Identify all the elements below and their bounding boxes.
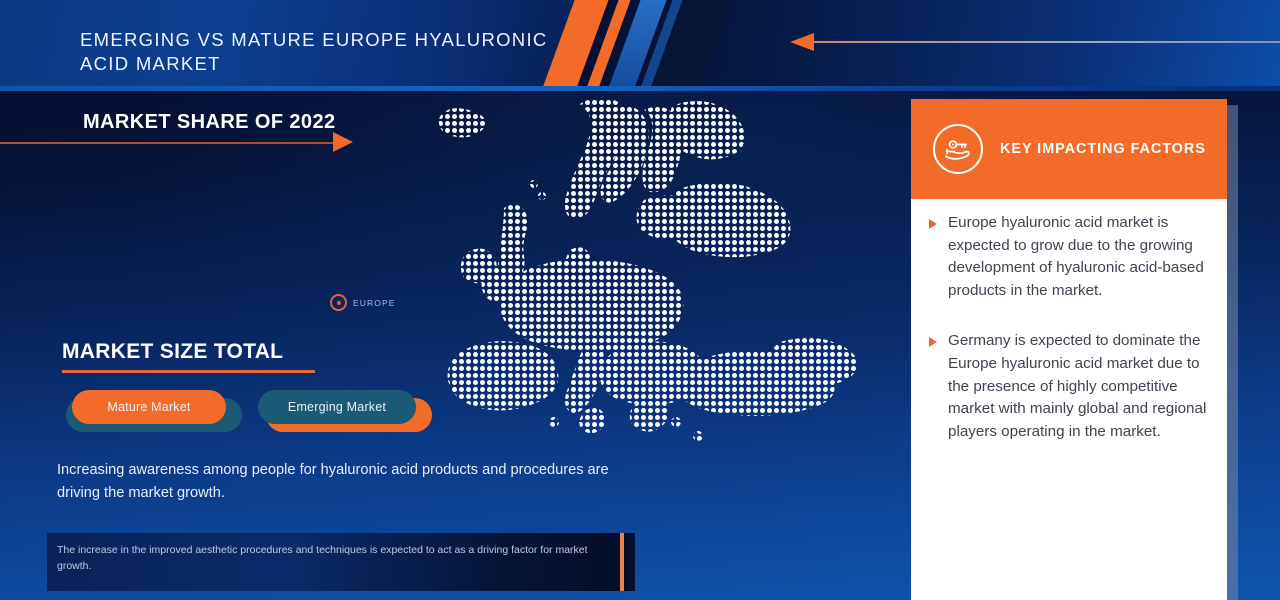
key-factors-title: KEY IMPACTING FACTORS (1000, 141, 1206, 157)
list-item-text: Europe hyaluronic acid market is expecte… (948, 212, 1211, 302)
market-size-underline (62, 370, 315, 373)
market-size-total-label: MARKET SIZE TOTAL (62, 340, 283, 364)
header-arrow-line (812, 41, 1280, 43)
list-item-text: Germany is expected to dominate the Euro… (948, 330, 1211, 443)
market-share-line (0, 142, 345, 144)
list-item: Germany is expected to dominate the Euro… (929, 330, 1211, 443)
page-title: EMERGING VS MATURE EUROPE HYALURONIC ACI… (80, 28, 550, 76)
europe-marker-label: EUROPE (353, 298, 396, 308)
key-factors-list: Europe hyaluronic acid market is expecte… (911, 212, 1227, 471)
footer-note: The increase in the improved aesthetic p… (57, 542, 597, 574)
footer-accent-bar (620, 533, 624, 591)
header-banner: EMERGING VS MATURE EUROPE HYALURONIC ACI… (0, 0, 1280, 90)
bullet-triangle-icon (929, 219, 937, 229)
footer-accent-bar-dark (628, 533, 635, 591)
infographic-root: EMERGING VS MATURE EUROPE HYALURONIC ACI… (0, 0, 1280, 600)
list-item: Europe hyaluronic acid market is expecte… (929, 212, 1211, 302)
lead-paragraph: Increasing awareness among people for hy… (57, 459, 617, 505)
bullet-triangle-icon (929, 337, 937, 347)
hand-holding-key-icon (933, 124, 983, 174)
header-arrow (790, 33, 1280, 51)
europe-dot-map (430, 92, 870, 442)
top-blue-strip (0, 86, 1280, 91)
arrow-right-icon (333, 132, 353, 152)
mature-market-button[interactable]: Mature Market (72, 390, 226, 424)
market-type-buttons: Mature Market Emerging Market (62, 390, 482, 440)
location-ring-icon (330, 294, 347, 311)
arrow-left-icon (790, 33, 814, 51)
key-factors-header: KEY IMPACTING FACTORS (911, 99, 1227, 199)
europe-map-marker: EUROPE (330, 294, 396, 311)
market-share-label: MARKET SHARE OF 2022 (83, 111, 336, 134)
emerging-market-button[interactable]: Emerging Market (258, 390, 416, 424)
